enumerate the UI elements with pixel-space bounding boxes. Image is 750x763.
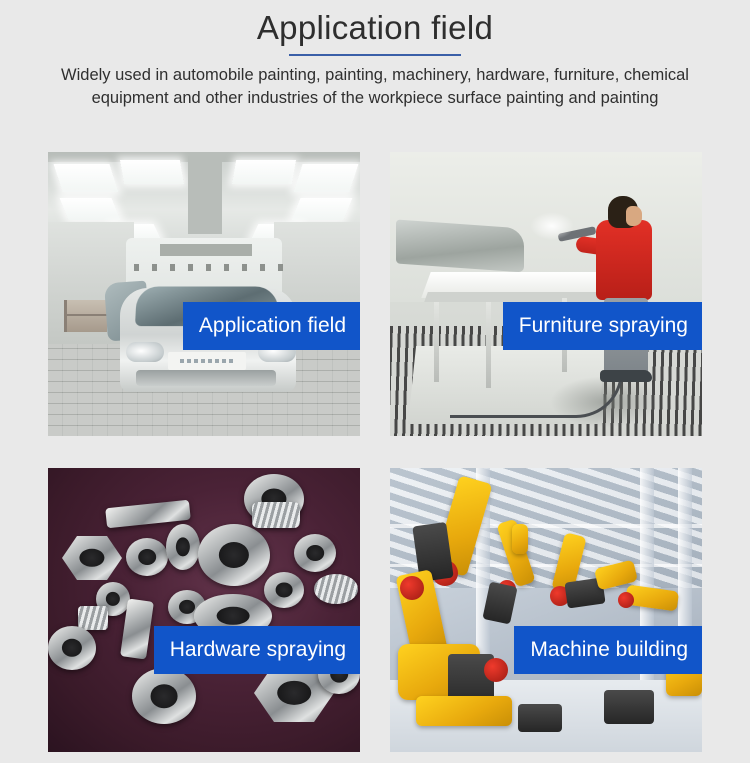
photo-worker-spraying-table [390,152,702,436]
page-title: Application field [0,6,750,50]
photo-robotic-assembly-line [390,468,702,752]
card-label-machine-building: Machine building [514,626,702,674]
card-hardware-spraying[interactable]: Hardware spraying [48,468,360,752]
page-subtitle: Widely used in automobile painting, pain… [45,64,705,110]
page-header: Application field Widely used in automob… [0,0,750,110]
title-underline-rule [289,54,461,56]
card-furniture-spraying[interactable]: Furniture spraying [390,152,702,436]
card-label-furniture-spraying: Furniture spraying [503,302,702,350]
photo-spray-booth-car [48,152,360,436]
card-label-application-field: Application field [183,302,360,350]
photo-metal-hardware-parts [48,468,360,752]
card-machine-building[interactable]: Machine building [390,468,702,752]
card-label-hardware-spraying: Hardware spraying [154,626,360,674]
application-card-grid: Application field [48,152,702,752]
card-application-field[interactable]: Application field [48,152,360,436]
